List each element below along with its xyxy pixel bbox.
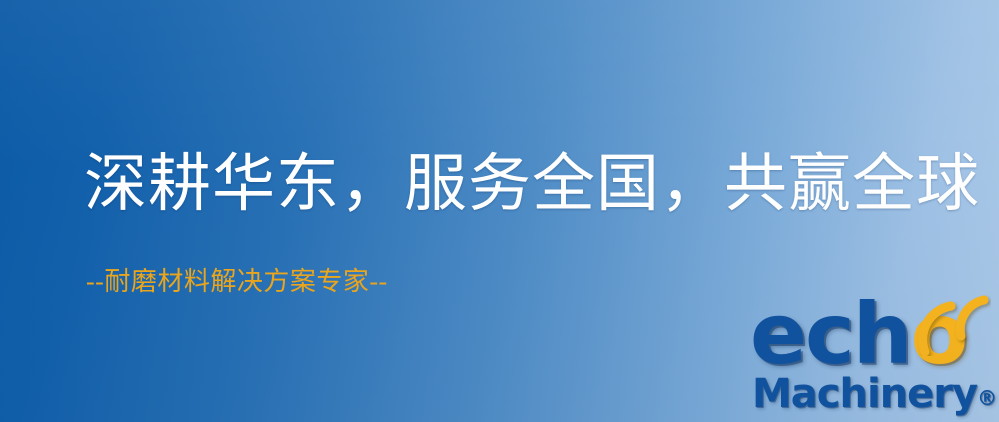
banner-subtitle: --耐磨材料解决方案专家--	[86, 266, 388, 297]
logo-word-ech: ech	[750, 285, 911, 383]
logo-tagline-text: Machinery	[752, 371, 977, 417]
signal-waves-icon	[917, 294, 991, 356]
logo-tagline: Machinery®	[752, 374, 997, 414]
echo-machinery-logo: echo Machinery®	[740, 292, 999, 422]
registered-trademark-icon: ®	[977, 386, 997, 410]
promo-banner: 深耕华东，服务全国，共赢全球 --耐磨材料解决方案专家-- echo Machi…	[0, 0, 999, 422]
banner-headline: 深耕华东，服务全国，共赢全球	[84, 150, 980, 218]
